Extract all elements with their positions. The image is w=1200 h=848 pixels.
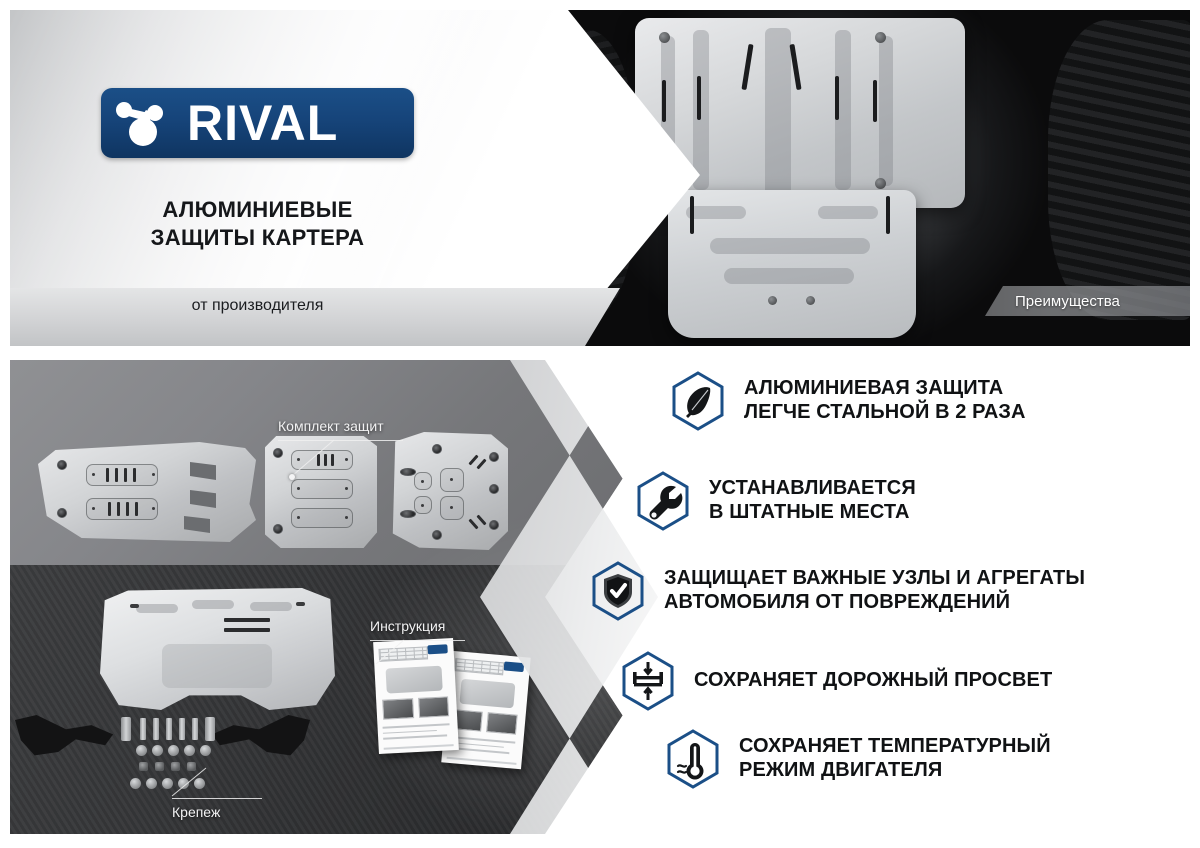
rival-logo: RIVAL <box>101 88 414 158</box>
skid-plate-main <box>100 588 335 710</box>
header-bottom-edge <box>0 346 1200 360</box>
banner-body: Комплект защит Инструкция Крепе <box>0 360 1200 848</box>
advantages-list: АЛЮМИНИЕВАЯ ЗАЩИТА ЛЕГЧЕ СТАЛЬНОЙ В 2 РА… <box>575 360 1200 834</box>
frame-bottom <box>0 834 1200 848</box>
page-title: АЛЮМИНИЕВЫЕЗАЩИТЫ КАРТЕРА <box>101 196 414 252</box>
frame-top <box>0 0 1200 10</box>
callout-kit: Комплект защит <box>278 418 384 434</box>
installed-skid-plate-lower <box>668 190 916 338</box>
page-title-line2: ЗАЩИТЫ КАРТЕРА <box>151 225 365 250</box>
advantage-text-5: СОХРАНЯЕТ ТЕМПЕРАТУРНЫЙ РЕЖИМ ДВИГАТЕЛЯ <box>739 735 1051 782</box>
skid-plate-3 <box>388 432 508 550</box>
advantage-item-2: УСТАНАВЛИВАЕТСЯ В ШТАТНЫЕ МЕСТА <box>635 470 916 532</box>
ground-clearance-icon <box>620 650 676 712</box>
callout-kit-label: Комплект защит <box>278 418 384 434</box>
advantage-text-1: АЛЮМИНИЕВАЯ ЗАЩИТА ЛЕГЧЕ СТАЛЬНОЙ В 2 РА… <box>744 377 1026 424</box>
callout-hardware-label: Крепеж <box>172 804 220 820</box>
rival-skid-plate-banner: RIVAL АЛЮМИНИЕВЫЕЗАЩИТЫ КАРТЕРА от произ… <box>0 0 1200 848</box>
tyre-right <box>1048 20 1198 320</box>
banner-header: RIVAL АЛЮМИНИЕВЫЕЗАЩИТЫ КАРТЕРА от произ… <box>0 0 1200 360</box>
advantage-text-4: СОХРАНЯЕТ ДОРОЖНЫЙ ПРОСВЕТ <box>694 669 1052 693</box>
page-title-line1: АЛЮМИНИЕВЫЕ <box>162 197 352 222</box>
advantages-tag-label: Преимущества <box>985 293 1120 310</box>
frame-right <box>1190 0 1200 848</box>
shield-check-icon <box>590 560 646 622</box>
advantage-item-5: СОХРАНЯЕТ ТЕМПЕРАТУРНЫЙ РЕЖИМ ДВИГАТЕЛЯ <box>665 728 1051 790</box>
advantages-tag: Преимущества <box>985 286 1200 316</box>
wrench-icon <box>635 470 691 532</box>
advantage-item-3: ЗАЩИЩАЕТ ВАЖНЫЕ УЗЛЫ И АГРЕГАТЫ АВТОМОБИ… <box>590 560 1085 622</box>
advantage-text-3: ЗАЩИЩАЕТ ВАЖНЫЕ УЗЛЫ И АГРЕГАТЫ АВТОМОБИ… <box>664 567 1085 614</box>
logo-wordmark: RIVAL <box>187 98 338 148</box>
skid-plate-1 <box>38 442 256 542</box>
page-subtitle: от производителя <box>101 296 414 315</box>
callout-hardware: Крепеж <box>172 782 220 820</box>
advantage-text-2: УСТАНАВЛИВАЕТСЯ В ШТАТНЫЕ МЕСТА <box>709 477 916 524</box>
advantage-item-1: АЛЮМИНИЕВАЯ ЗАЩИТА ЛЕГЧЕ СТАЛЬНОЙ В 2 РА… <box>670 370 1026 432</box>
feather-icon <box>670 370 726 432</box>
molecule-icon <box>113 96 185 150</box>
callout-instruction-label: Инструкция <box>370 618 445 634</box>
thermometer-icon <box>665 728 721 790</box>
advantage-item-4: СОХРАНЯЕТ ДОРОЖНЫЙ ПРОСВЕТ <box>620 650 1052 712</box>
callout-instruction: Инструкция <box>370 618 445 634</box>
frame-left <box>0 0 10 848</box>
